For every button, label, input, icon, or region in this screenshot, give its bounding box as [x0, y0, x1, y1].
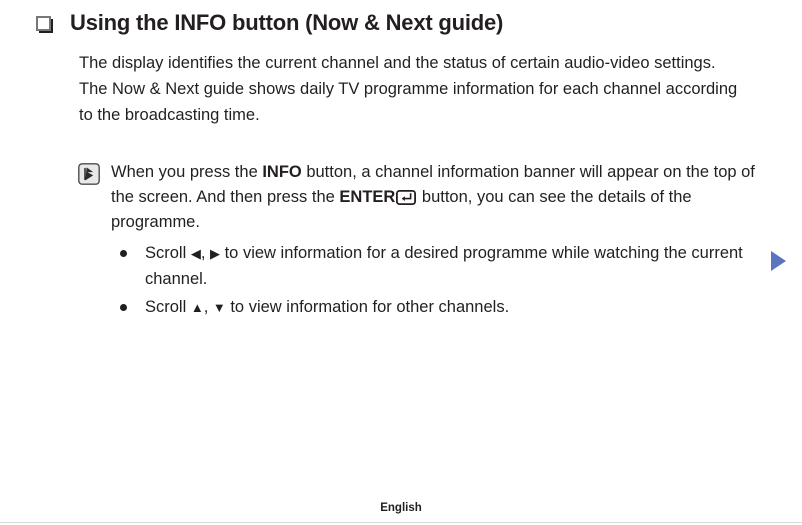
list-item-text-before: Scroll [145, 298, 191, 316]
enter-return-key-icon [396, 188, 416, 203]
document-page: Using the INFO button (Now & Next guide)… [0, 0, 802, 525]
list-item-text-after: to view information for other channels. [226, 298, 509, 316]
left-arrow-icon: ◀ [191, 246, 201, 261]
square-bullet-icon [36, 16, 53, 33]
list-item-text: Scroll ◀, ▶ to view information for a de… [145, 240, 753, 292]
list-item-text-after: to view information for a desired progra… [145, 244, 743, 288]
round-dot-icon [120, 250, 127, 257]
glyph-separator: , [204, 298, 213, 316]
note-callout: When you press the INFO button, a channe… [78, 160, 768, 235]
scroll-instructions-list: Scroll ◀, ▶ to view information for a de… [120, 240, 760, 322]
enter-button-label: ENTER [339, 188, 395, 206]
list-item: Scroll ▲, ▼ to view information for othe… [120, 294, 760, 320]
note-pen-icon [78, 163, 100, 185]
paragraph-2: The Now & Next guide shows daily TV prog… [79, 76, 751, 128]
footer-language-label: English [0, 502, 802, 514]
footer-divider [0, 522, 802, 523]
paragraph-1: The display identifies the current chann… [79, 50, 751, 76]
up-arrow-icon: ▲ [191, 300, 204, 315]
list-item: Scroll ◀, ▶ to view information for a de… [120, 240, 760, 292]
info-button-label: INFO [262, 163, 301, 181]
list-item-text: Scroll ▲, ▼ to view information for othe… [145, 294, 753, 320]
intro-paragraphs: The display identifies the current chann… [79, 50, 751, 128]
note-text: When you press the INFO button, a channe… [111, 160, 766, 235]
page-title: Using the INFO button (Now & Next guide) [70, 8, 503, 38]
round-dot-icon [120, 304, 127, 311]
glyph-separator: , [201, 244, 210, 262]
right-arrow-icon: ▶ [210, 246, 220, 261]
note-text-segment-1: When you press the [111, 163, 262, 181]
next-page-arrow-icon[interactable] [768, 250, 788, 272]
section-heading: Using the INFO button (Now & Next guide) [36, 8, 762, 38]
list-item-text-before: Scroll [145, 244, 191, 262]
down-arrow-icon: ▼ [213, 300, 226, 315]
